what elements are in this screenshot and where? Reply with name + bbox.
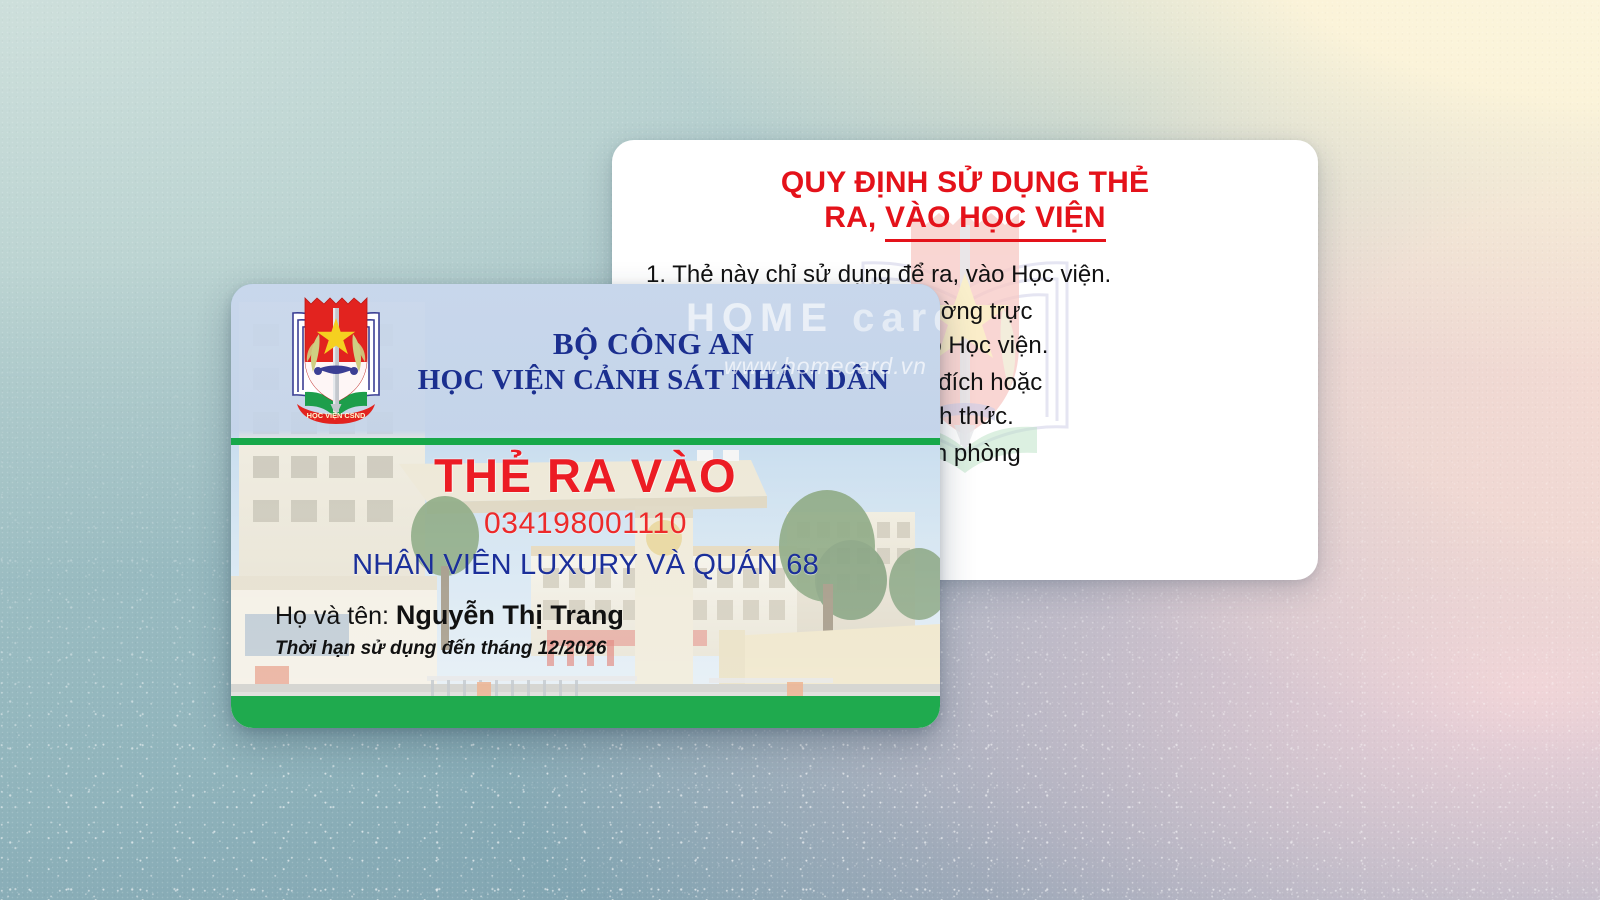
card-title: THẺ RA VÀO: [231, 452, 940, 500]
police-academy-emblem-icon: HỌC VIỆN CSND: [275, 292, 397, 424]
organization-academy: HỌC VIỆN CẢNH SÁT NHÂN DÂN: [381, 363, 926, 397]
cardholder-name-row: Họ và tên: Nguyễn Thị Trang: [275, 600, 624, 631]
front-card-body: THẺ RA VÀO 034198001110 NHÂN VIÊN LUXURY…: [231, 452, 940, 582]
cardholder-name-value: Nguyễn Thị Trang: [396, 600, 624, 630]
back-card-title-line2-underlined: VÀO HỌC VIỆN: [885, 201, 1106, 242]
organization-ministry: BỘ CÔNG AN: [381, 328, 926, 361]
green-footer-bar: [231, 696, 940, 728]
front-card-organization: BỘ CÔNG AN HỌC VIỆN CẢNH SÁT NHÂN DÂN: [381, 328, 926, 397]
front-card-footer: Họ và tên: Nguyễn Thị Trang Thời hạn sử …: [275, 600, 624, 660]
card-validity: Thời hạn sử dụng đến tháng 12/2026: [275, 638, 624, 660]
back-card-title-line2-plain: RA,: [824, 201, 885, 234]
cardholder-name-label: Họ và tên:: [275, 602, 389, 630]
green-divider: [231, 438, 940, 445]
back-card-title-line2: RA, VÀO HỌC VIỆN: [824, 201, 1106, 236]
card-role: NHÂN VIÊN LUXURY VÀ QUÁN 68: [231, 549, 940, 582]
front-card-header: HỌC VIỆN CSND BỘ CÔNG AN HỌC VIỆN CẢNH S…: [231, 284, 940, 439]
back-card-title: QUY ĐỊNH SỬ DỤNG THẺ RA, VÀO HỌC VIỆN: [646, 166, 1284, 236]
card-number: 034198001110: [231, 507, 940, 541]
card-front-pass[interactable]: HỌC VIỆN CSND BỘ CÔNG AN HỌC VIỆN CẢNH S…: [231, 284, 940, 728]
back-card-title-line1: QUY ĐỊNH SỬ DỤNG THẺ: [646, 166, 1284, 201]
emblem-ribbon-text: HỌC VIỆN CSND: [307, 411, 366, 420]
